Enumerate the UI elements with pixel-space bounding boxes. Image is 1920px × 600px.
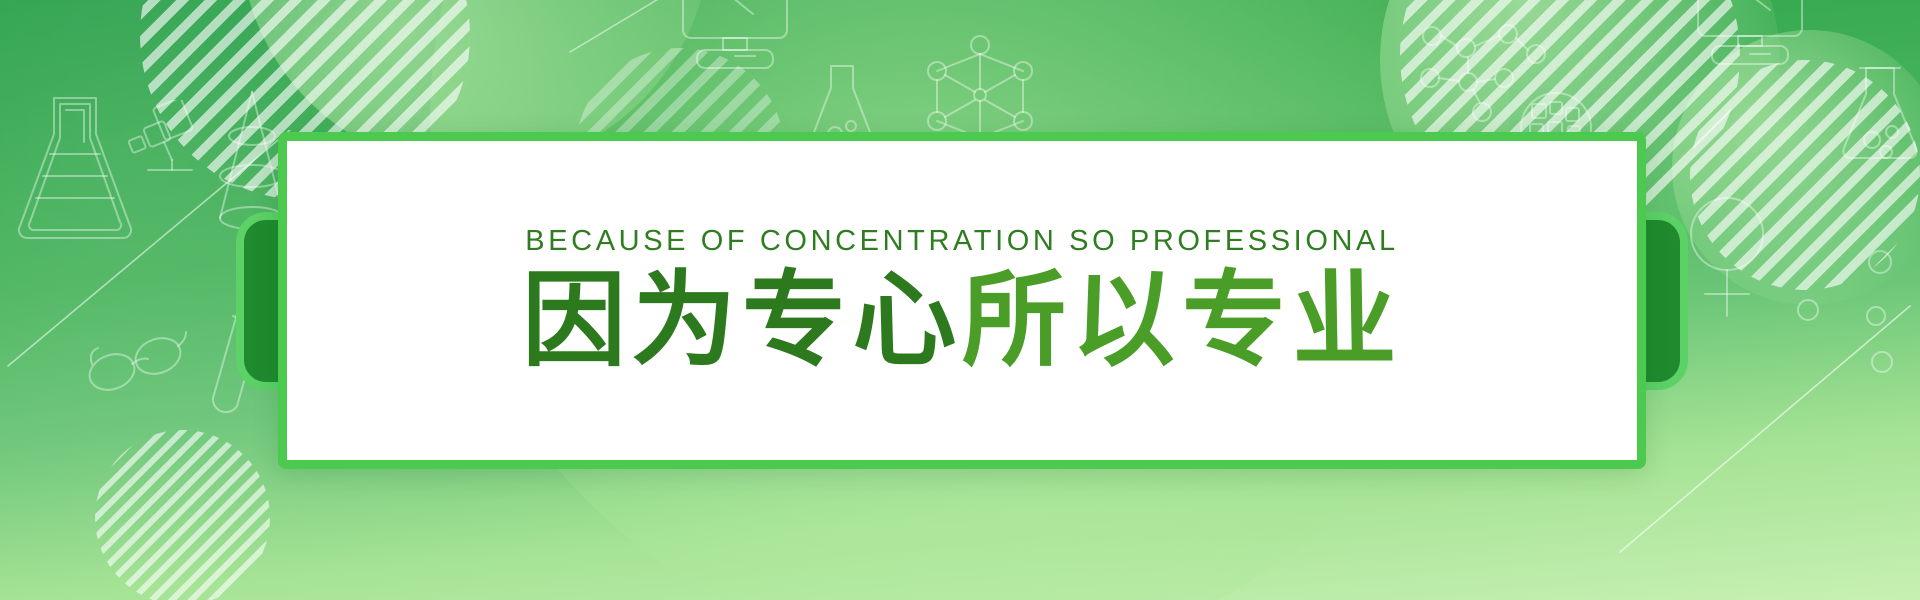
banner-headline: 因为专心所以专业	[522, 266, 1402, 375]
headline-char-3: 专	[742, 266, 852, 375]
striped-circle-icon-bottom-left	[95, 430, 270, 600]
headline-char-8: 业	[1291, 266, 1403, 375]
headline-card: BECAUSE OF CONCENTRATION SO PROFESSIONAL…	[278, 132, 1646, 469]
headline-char-2: 为	[630, 266, 744, 375]
headline-char-4: 心	[851, 266, 964, 375]
banner-subtitle: BECAUSE OF CONCENTRATION SO PROFESSIONAL	[525, 225, 1398, 258]
headline-char-1: 因	[522, 266, 632, 375]
headline-char-6: 以	[1070, 266, 1184, 375]
striped-circle-icon-right	[1690, 60, 1920, 290]
headline-char-5: 所	[962, 266, 1072, 375]
headline-card-wrapper: BECAUSE OF CONCENTRATION SO PROFESSIONAL…	[278, 132, 1646, 469]
headline-char-7: 专	[1182, 266, 1292, 375]
promotional-banner: BECAUSE OF CONCENTRATION SO PROFESSIONAL…	[0, 0, 1920, 600]
